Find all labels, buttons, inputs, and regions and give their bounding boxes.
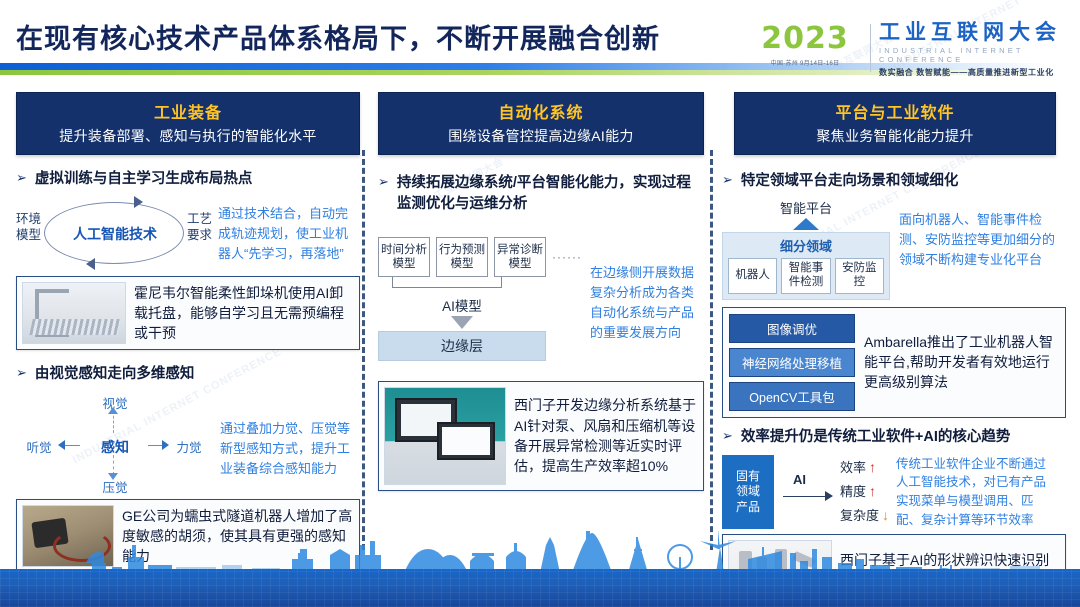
perception-diagram: 视觉 听觉 感知 力觉 压觉	[16, 393, 214, 497]
c1-s1-diagram-row: 环境 模型 人工智能技术 工艺 要求 通过技术结合，自动完成轨迹规划，使工业机器…	[16, 198, 360, 270]
c2-s1-note: 在边缘侧开展数据复杂分析成为各类自动化系统与产品的重要发展方向	[590, 231, 704, 361]
ambarella-feature-chips: 图像调优 神经网络处理移植 OpenCV工具包	[729, 314, 855, 411]
siemens-edge-analytics-photo	[384, 387, 506, 485]
ai-arrow-label: AI	[793, 472, 806, 487]
logo-year-block: 2023 中国·苏州 9月14日-16日	[744, 22, 866, 67]
down-arrow-icon	[378, 316, 546, 329]
column-industrial-equipment: 工业装备 提升装备部署、感知与执行的智能化水平 ➢ 虚拟训练与自主学习生成布局热…	[16, 92, 360, 573]
model-box: 时间分析模型	[378, 237, 430, 277]
c2-s1-diagram-row: 时间分析模型 行为预测模型 异常诊断模型 ······ AI模型 边缘层 在边缘…	[378, 231, 704, 361]
c1-s2-case-caption: GE公司为蠕虫式隧道机器人增加了高度敏感的胡须，使其具有更强的感知能力	[122, 506, 354, 567]
column-2-banner-title: 自动化系统	[383, 99, 699, 123]
edge-ai-stack-diagram: 时间分析模型 行为预测模型 异常诊断模型 ······ AI模型 边缘层	[378, 231, 582, 361]
platform-top-label: 智能平台	[722, 198, 890, 217]
c3-s2-bullet: ➢ 效率提升仍是传统工业软件+AI的核心趋势	[722, 427, 1066, 448]
cycle-center-label: 人工智能技术	[60, 224, 170, 244]
c2-s1-case-caption: 西门子开发边缘分析系统基于AI针对泵、风扇和压缩机等设备开展异常检测等近实时评估…	[514, 395, 698, 476]
column-divider-1	[362, 150, 365, 550]
model-box: 异常诊断模型	[494, 237, 546, 277]
efficiency-metrics: 效率 ↑ 精度 ↑ 复杂度 ↓	[840, 456, 889, 527]
logo-name-block: 工业互联网大会 INDUSTRIAL INTERNET CONFERENCE 数…	[879, 22, 1074, 78]
c3-s1-case-card: 图像调优 神经网络处理移植 OpenCV工具包 Ambarella推出了工业机器…	[722, 307, 1066, 418]
c1-s1-case-card: 霍尼韦尔智能柔性卸垛机使用AI卸载托盘，能够自学习且无需预编程或干预	[16, 276, 360, 350]
column-3-banner-subtitle: 聚焦业务智能化能力提升	[739, 126, 1051, 146]
platform-cell: 机器人	[728, 258, 777, 294]
metric-row: 复杂度 ↓	[840, 504, 889, 528]
column-2-banner: 自动化系统 围绕设备管控提高边缘AI能力	[378, 92, 704, 155]
bullet-arrow-icon: ➢	[722, 427, 733, 446]
platform-domain-diagram: 智能平台 细分领域 机器人 智能事件检测 安防监控	[722, 198, 890, 300]
c3-s2-case-caption: 西门子基于AI的形状辨识快速识别几何体结构类似的组件	[840, 550, 1060, 591]
c3-s1-bullet: ➢ 特定领域平台走向场景和领域细化	[722, 171, 1066, 192]
platform-cell: 智能事件检测	[781, 258, 830, 294]
cycle-left-label: 环境 模型	[16, 212, 41, 243]
bullet-arrow-icon: ➢	[16, 364, 27, 383]
column-1-banner-subtitle: 提升装备部署、感知与执行的智能化水平	[21, 126, 355, 146]
feature-chip: 神经网络处理移植	[729, 348, 855, 377]
platform-domain-box: 细分领域 机器人 智能事件检测 安防监控	[722, 232, 890, 300]
ai-arrow-head-icon	[825, 491, 833, 501]
model-ellipsis: ······	[552, 250, 582, 264]
perception-right-label: 力觉	[164, 437, 214, 456]
page-title: 在现有核心技术产品体系格局下，不断开展融合创新	[16, 17, 660, 56]
trend-up-icon: ↑	[869, 456, 876, 480]
c3-s2-diagram-row: 固有 领域 产品 AI 效率 ↑ 精度 ↑ 复杂度 ↓	[722, 455, 1066, 530]
perception-line-left	[64, 445, 80, 446]
cycle-right-label: 工艺 要求	[187, 212, 212, 243]
c1-s2-case-card: GE公司为蠕虫式隧道机器人增加了高度敏感的胡须，使其具有更强的感知能力	[16, 499, 360, 573]
perception-arrow-left-icon	[58, 440, 65, 450]
ai-model-label: AI模型	[378, 295, 546, 315]
perception-down-label: 压觉	[84, 477, 146, 496]
column-1-banner: 工业装备 提升装备部署、感知与执行的智能化水平	[16, 92, 360, 155]
c2-s1-heading: 持续拓展边缘系统/平台智能化能力，实现过程监测优化与运维分析	[397, 173, 704, 215]
column-3-banner: 平台与工业软件 聚焦业务智能化能力提升	[734, 92, 1056, 155]
feature-chip: 图像调优	[729, 314, 855, 343]
trend-down-icon: ↓	[882, 504, 889, 528]
legacy-domain-product-box: 固有 领域 产品	[722, 455, 774, 529]
metric-label: 复杂度	[840, 505, 879, 527]
c3-s2-heading: 效率提升仍是传统工业软件+AI的核心趋势	[741, 427, 1010, 448]
trend-up-icon: ↑	[869, 480, 876, 504]
conference-logo: 2023 中国·苏州 9月14日-16日 工业互联网大会 INDUSTRIAL …	[744, 22, 1074, 74]
logo-slogan: 数实融合 数智赋能——高质量推进新型工业化	[879, 67, 1074, 78]
perception-line-right	[148, 445, 162, 446]
ai-cycle-diagram: 环境 模型 人工智能技术 工艺 要求	[16, 198, 212, 270]
logo-divider	[870, 24, 871, 72]
platform-cell: 安防监控	[835, 258, 884, 294]
column-automation-system: 自动化系统 围绕设备管控提高边缘AI能力 ➢ 持续拓展边缘系统/平台智能化能力，…	[378, 92, 704, 491]
model-boxes-row: 时间分析模型 行为预测模型 异常诊断模型 ······	[378, 237, 582, 277]
c3-s1-diagram-row: 智能平台 细分领域 机器人 智能事件检测 安防监控 面向机器人、智能事件检测、安…	[722, 198, 1066, 300]
c2-s1-bullet: ➢ 持续拓展边缘系统/平台智能化能力，实现过程监测优化与运维分析	[378, 173, 704, 215]
column-1-banner-title: 工业装备	[21, 99, 355, 123]
perception-center-label: 感知	[84, 437, 146, 457]
c1-s1-case-caption: 霍尼韦尔智能柔性卸垛机使用AI卸载托盘，能够自学习且无需预编程或干预	[134, 283, 354, 344]
model-brace-connector	[378, 277, 546, 293]
c1-s2-diagram-row: 视觉 听觉 感知 力觉 压觉 通过叠加力觉、压觉等新型感知方式，提升工业装备综合…	[16, 393, 360, 497]
column-2-banner-subtitle: 围绕设备管控提高边缘AI能力	[383, 126, 699, 146]
column-3-banner-title: 平台与工业软件	[739, 99, 1051, 123]
c3-s2-note: 传统工业软件企业不断通过人工智能技术，对已有产品实现菜单与模型调用、匹配、复杂计…	[896, 455, 1056, 530]
logo-year: 2023	[744, 24, 866, 54]
column-divider-2	[710, 150, 713, 550]
c3-s1-case-caption: Ambarella推出了工业机器人智能平台,帮助开发者有效地运行更高级别算法	[864, 332, 1059, 393]
logo-name-cn: 工业互联网大会	[879, 22, 1074, 44]
perception-line-up	[113, 411, 114, 433]
c1-s2-heading: 由视觉感知走向多维感知	[35, 364, 195, 385]
c3-s1-note: 面向机器人、智能事件检测、安防监控等更加细分的领域不断构建专业化平台	[899, 198, 1059, 300]
perception-arrow-up-icon	[108, 407, 118, 414]
cycle-arrow-top-icon	[134, 196, 143, 208]
cycle-arrow-bottom-icon	[86, 258, 95, 270]
c1-s1-bullet: ➢ 虚拟训练与自主学习生成布局热点	[16, 169, 360, 190]
siemens-parts-recognition-photo	[728, 540, 832, 602]
c1-s1-heading: 虚拟训练与自主学习生成布局热点	[35, 169, 253, 190]
metric-label: 精度	[840, 481, 866, 503]
platform-cells: 机器人 智能事件检测 安防监控	[728, 258, 884, 294]
logo-name-en: INDUSTRIAL INTERNET CONFERENCE	[879, 46, 1074, 64]
bullet-arrow-icon: ➢	[378, 173, 389, 192]
up-arrow-icon	[722, 218, 890, 230]
c3-s1-heading: 特定领域平台走向场景和领域细化	[741, 171, 959, 192]
c1-s2-note: 通过叠加力觉、压觉等新型感知方式，提升工业装备综合感知能力	[220, 393, 358, 479]
bullet-arrow-icon: ➢	[16, 169, 27, 188]
c3-s2-case-card: 西门子基于AI的形状辨识快速识别几何体结构类似的组件	[722, 534, 1066, 607]
ge-worm-robot-photo	[22, 505, 114, 567]
ai-arrow-line-icon	[783, 496, 825, 497]
ai-arrow: AI	[781, 472, 833, 512]
column-platform-software: 平台与工业软件 聚焦业务智能化能力提升 ➢ 特定领域平台走向场景和领域细化 智能…	[722, 92, 1066, 607]
honeywell-depalletizer-photo	[22, 282, 126, 344]
c1-s1-note: 通过技术结合，自动完成轨迹规划，使工业机器人“先学习，再落地”	[218, 204, 358, 264]
perception-left-label: 听觉	[16, 437, 62, 456]
metric-row: 效率 ↑	[840, 456, 889, 480]
edge-layer-box: 边缘层	[378, 331, 546, 361]
platform-group-label: 细分领域	[728, 236, 884, 255]
slide-root: INDUSTRIAL INTERNET CONFERENCE 工业互联网大会 I…	[0, 0, 1080, 607]
c2-s1-case-card: 西门子开发边缘分析系统基于AI针对泵、风扇和压缩机等设备开展异常检测等近实时评估…	[378, 381, 704, 491]
c1-s2-bullet: ➢ 由视觉感知走向多维感知	[16, 364, 360, 385]
metric-row: 精度 ↑	[840, 480, 889, 504]
feature-chip: OpenCV工具包	[729, 382, 855, 411]
metric-label: 效率	[840, 457, 866, 479]
bullet-arrow-icon: ➢	[722, 171, 733, 190]
perception-line-down	[113, 455, 114, 475]
logo-date: 中国·苏州 9月14日-16日	[744, 58, 866, 67]
model-box: 行为预测模型	[436, 237, 488, 277]
